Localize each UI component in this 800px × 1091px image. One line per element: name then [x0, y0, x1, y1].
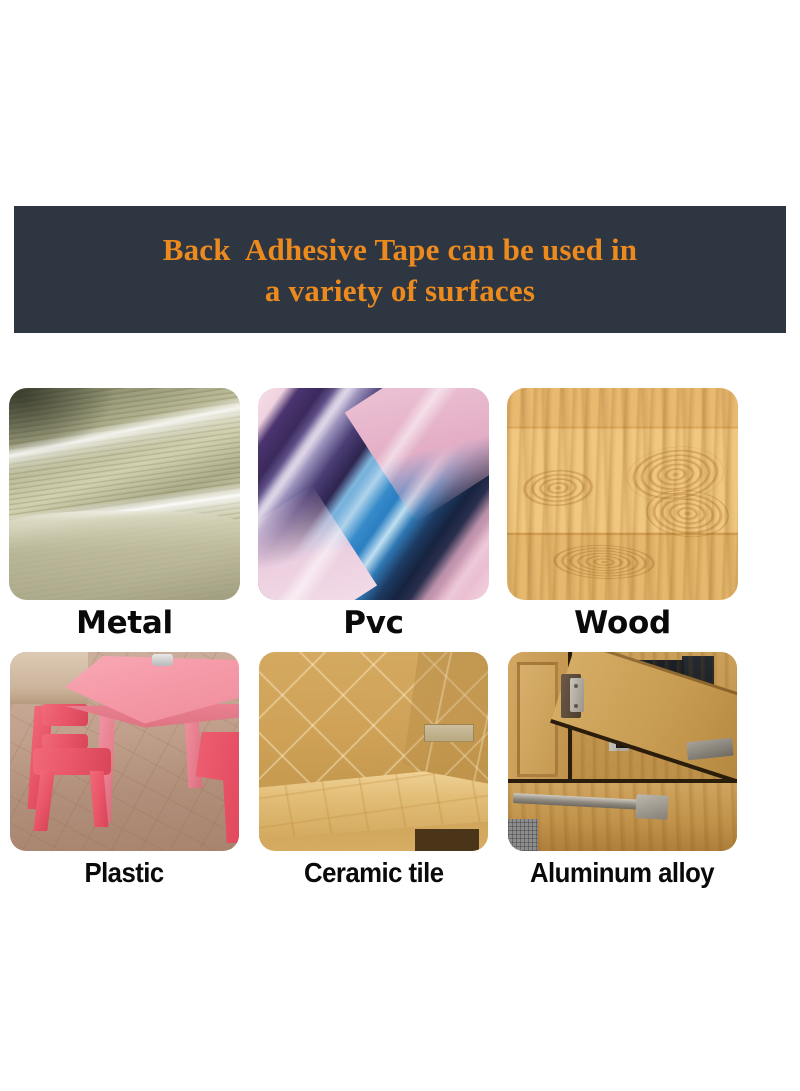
- plastic-table-chairs-photo: [10, 652, 239, 851]
- surface-cell-ceramic-tile[interactable]: Ceramic tile: [249, 652, 498, 891]
- plastic-scene-wall: [10, 652, 88, 704]
- surface-grid: Metal Pvc Wood: [0, 388, 800, 891]
- headline-line-1: Back Adhesive Tape can be used in: [163, 229, 638, 270]
- surface-label-ceramic-tile: Ceramic tile: [304, 855, 443, 891]
- surface-cell-wood[interactable]: Wood: [498, 388, 747, 642]
- metal-shadow-corner: [9, 388, 113, 452]
- headline-banner: Back Adhesive Tape can be used in a vari…: [14, 206, 786, 333]
- aluminum-sill-texture: [508, 783, 737, 851]
- metal-fold-highlight: [9, 511, 240, 600]
- ceramic-scene-graphic: [259, 652, 488, 851]
- wood-plank-photo: [507, 388, 738, 600]
- metal-surface-photo: [9, 388, 240, 600]
- surface-cell-pvc[interactable]: Pvc: [249, 388, 498, 642]
- ceramic-wall-switch: [424, 724, 474, 742]
- wood-plank-graphic: [507, 388, 738, 600]
- pvc-rolls-photo: [258, 388, 489, 600]
- surface-cell-aluminum-alloy[interactable]: Aluminum alloy: [498, 652, 747, 891]
- headline-line-2: a variety of surfaces: [265, 270, 535, 311]
- surface-label-metal: Metal: [76, 604, 173, 642]
- aluminum-window-graphic: [508, 652, 737, 851]
- surface-cell-plastic[interactable]: Plastic: [0, 652, 249, 891]
- surface-cell-metal[interactable]: Metal: [0, 388, 249, 642]
- pvc-gloss-highlight: [258, 388, 489, 600]
- plastic-table-clip: [152, 654, 173, 666]
- plastic-scene-graphic: [10, 652, 239, 851]
- aluminum-screen-mesh: [508, 819, 538, 851]
- surface-grid-row-bottom: Plastic Ceramic tile: [0, 652, 800, 891]
- surface-label-aluminum-alloy: Aluminum alloy: [530, 855, 714, 891]
- surface-grid-row-top: Metal Pvc Wood: [0, 388, 800, 642]
- ceramic-counter-recess: [415, 829, 479, 851]
- surface-label-pvc: Pvc: [343, 604, 403, 642]
- aluminum-stay-block: [636, 794, 669, 820]
- aluminum-window-frame-photo: [508, 652, 737, 851]
- ceramic-tile-wall-photo: [259, 652, 488, 851]
- surface-label-wood: Wood: [574, 604, 671, 642]
- surface-label-plastic: Plastic: [85, 855, 164, 891]
